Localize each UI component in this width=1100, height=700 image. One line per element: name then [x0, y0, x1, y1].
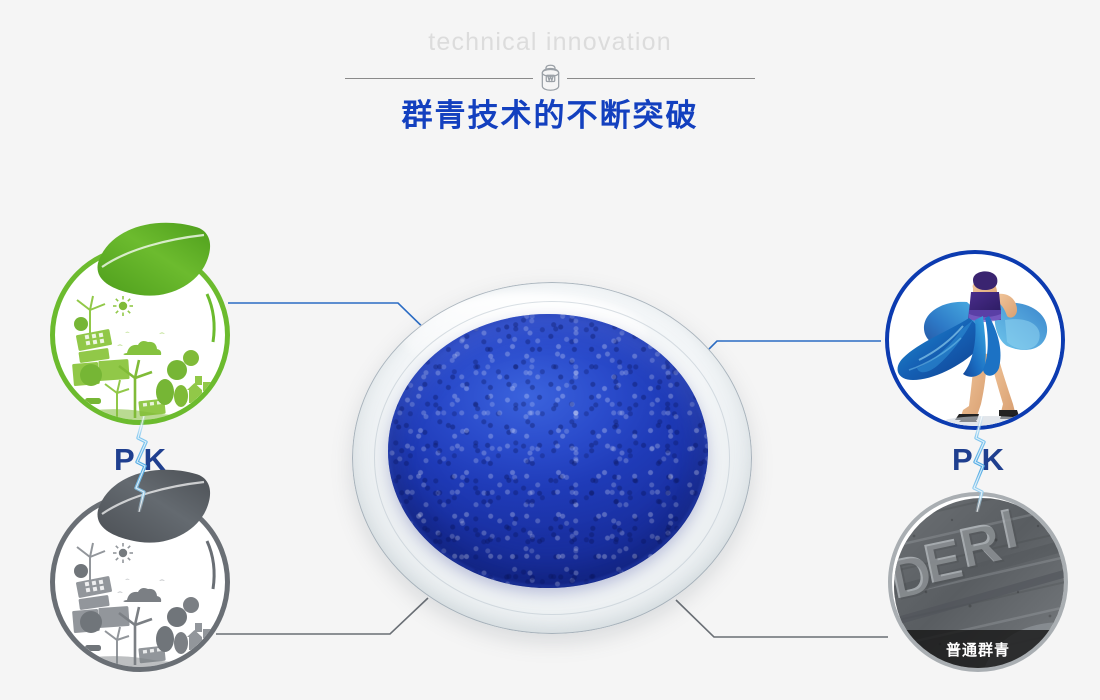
pk-label-left: PK [80, 442, 200, 478]
poster-stage: technical innovation 群青技术的不断突破 [0, 0, 1100, 700]
divider-line-right [567, 78, 755, 79]
divider-line-left [345, 78, 533, 79]
header: technical innovation 群青技术的不断突破 [0, 0, 1100, 150]
gray-fabric-disc: D E R I D E R I [888, 492, 1068, 672]
page-title: 群青技术的不断突破 [0, 90, 1100, 135]
ordinary-ultramarine-photo-circle[interactable]: D E R I D E R I [888, 492, 1068, 672]
ordinary-ultramarine-caption: 普通群青 [892, 630, 1064, 668]
eco-friendly-circle[interactable] [50, 245, 230, 425]
pk-badge-right: PK [918, 432, 1038, 496]
eco-gray-scene [55, 497, 230, 672]
ultramarine-powder-dish [352, 282, 752, 634]
eco-gray-disc [50, 492, 230, 672]
header-eyebrow: technical innovation [0, 28, 1100, 57]
eco-green-disc [50, 245, 230, 425]
polluted-circle[interactable] [50, 492, 230, 672]
dish-rim [352, 282, 752, 634]
blue-dress-photo-circle[interactable] [885, 250, 1065, 430]
connector-fabric-gray [676, 600, 888, 637]
connector-eco-gray [216, 598, 428, 634]
paint-bucket-icon [538, 64, 563, 92]
blue-dress-disc [885, 250, 1065, 430]
pk-label-right: PK [918, 442, 1038, 478]
pk-badge-left: PK [80, 432, 200, 496]
eco-green-scene [55, 250, 230, 425]
woman-in-blue-dress [889, 254, 1065, 430]
